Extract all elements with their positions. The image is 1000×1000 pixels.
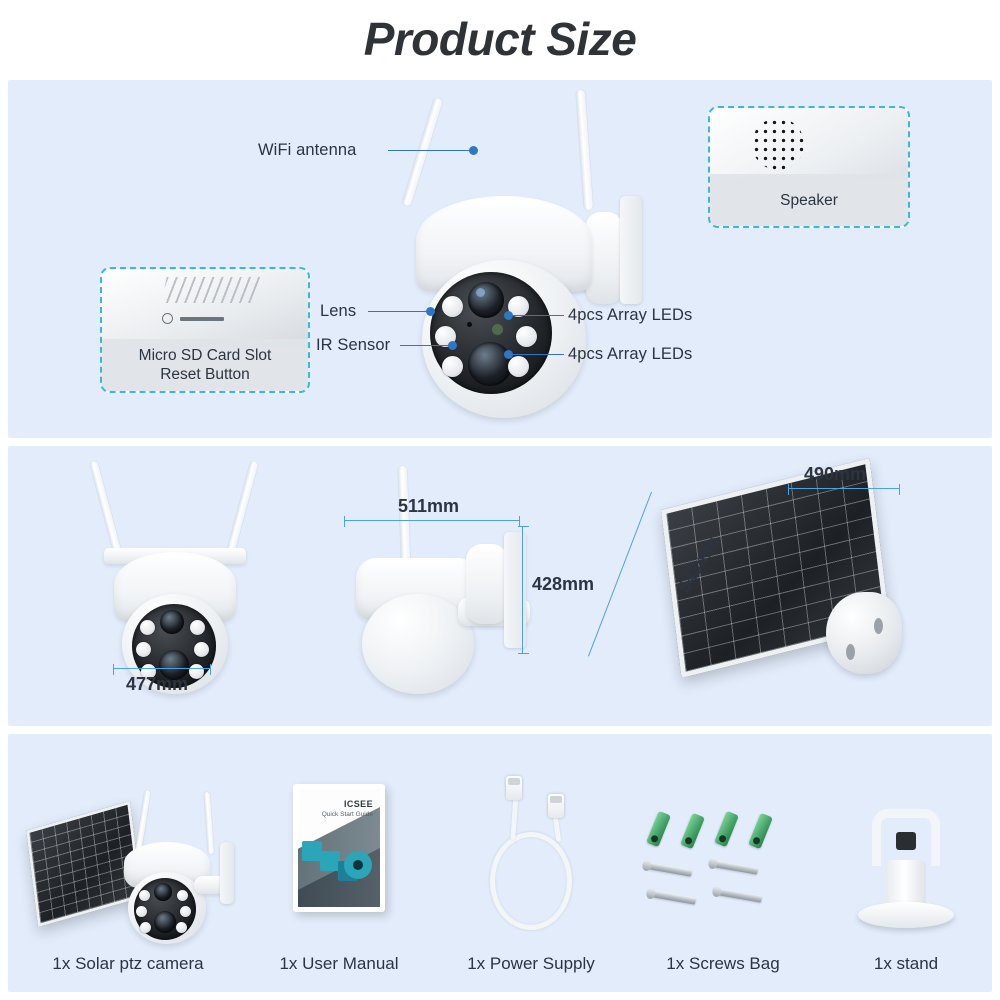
speaker-photo [710,108,908,180]
leader-dot-array-leds-bottom [504,350,513,359]
cable-coil [490,832,572,930]
manual-booklet: ICSEE Quick Start Guide [293,784,385,912]
dimension-line-camera-height [522,526,523,654]
power-supply-art [436,776,626,946]
camera-lower-lens [154,911,176,933]
wifi-antenna-left [135,790,151,852]
package-item-label: 1x Screws Bag [666,954,779,974]
leader-dot-wifi-antenna [469,146,478,155]
lens-highlight-icon [476,288,485,297]
label-wifi-antenna: WiFi antenna [258,141,356,160]
label-array-leds-bottom: 4pcs Array LEDs [568,345,692,364]
leader-line-array-leds-top [508,315,564,316]
ir-pinhole-icon [467,322,472,327]
dimension-line-solar-width [788,488,900,489]
camera-front-view-illustration [88,456,268,666]
ir-sensor-element [492,324,503,335]
dimension-line-camera-depth [344,520,520,521]
callout-micro-sd-card-slot: Micro SD Card Slot Reset Button [100,267,310,393]
camera-lens [160,610,184,634]
leader-line-array-leds-bottom [508,354,564,355]
array-led [140,620,155,635]
package-item-label: 1x Solar ptz camera [52,954,203,974]
camera-lens [154,883,172,901]
array-led [194,642,209,657]
product-features-panel: WiFi antenna Lens IR Sensor 4pcs Array L… [8,80,992,438]
micro-sd-slot-icon [180,317,224,321]
mount-hole-icon [874,618,883,634]
package-item-stand: 1x stand [820,752,992,974]
package-item-label: 1x User Manual [279,954,398,974]
array-led [177,890,188,901]
main-camera-illustration [388,92,668,422]
manual-cover: ICSEE Quick Start Guide [298,789,380,907]
wall-anchor [680,813,705,849]
package-item-screws-bag: 1x Screws Bag [630,752,816,974]
label-ir-sensor: IR Sensor [316,336,390,355]
usb-plug-tip-right [550,796,562,803]
leader-dot-lens [426,307,435,316]
usb-plug-tip-left [508,778,520,785]
solar-ptz-camera-art [14,776,242,946]
stand-art [820,776,992,946]
title-bar: Product Size [0,0,1000,78]
array-led [516,326,537,347]
dimension-label-solar-width: 490mm [804,464,866,485]
array-led [139,890,150,901]
array-led [189,664,204,679]
wifi-antenna-left [89,461,122,558]
leader-line-lens [368,311,430,312]
leader-line-wifi-antenna [388,150,474,151]
camera-mount-neck [466,544,508,624]
user-manual-art: ICSEE Quick Start Guide [246,776,432,946]
camera-illustration [110,790,240,940]
leader-dot-ir-sensor [448,341,457,350]
solar-panel-mount [826,592,902,674]
package-contents-panel: 1x Solar ptz camera ICSEE Quick Start Gu… [8,734,992,992]
speaker-grille-icon [752,118,804,170]
array-led [190,620,205,635]
dimension-label-camera-depth: 511mm [398,496,459,517]
dimension-label-camera-height: 428mm [532,574,594,595]
camera-lens [468,282,504,318]
mount-hole-icon [846,644,855,660]
icsee-eye-logo-icon [344,851,372,879]
package-item-solar-ptz-camera: 1x Solar ptz camera [14,752,242,974]
callout-micro-sd-line2: Reset Button [160,365,250,384]
leader-line-ir-sensor [400,345,452,346]
wifi-antenna-right [576,90,593,210]
reset-button-icon [162,313,173,324]
dimension-label-camera-width: 477mm [126,674,188,695]
package-item-power-supply: 1x Power Supply [436,752,626,974]
camera-lower-lens [468,342,512,386]
array-led [508,356,529,377]
product-dimensions-panel: 477mm 511mm 428mm 490mm 543mm [8,446,992,726]
leader-dot-array-leds-top [504,311,513,320]
cover-tile-icon [302,841,322,861]
array-led [442,296,463,317]
array-led [140,922,151,933]
callout-speaker-line1: Speaker [780,191,838,210]
product-size-infographic: Product Size [0,0,1000,1000]
stand-base [858,902,954,928]
package-item-label: 1x stand [874,954,938,974]
camera-sensor-face [134,878,196,940]
callout-micro-sd-line1: Micro SD Card Slot [139,346,272,365]
screws-bag-art [630,776,816,946]
array-led [180,906,191,917]
camera-wall-plate [220,842,234,904]
screw [648,862,693,877]
sd-slot-vent-icon [161,277,263,303]
wall-anchor [714,811,739,847]
wall-anchor [646,811,671,847]
array-led [442,356,463,377]
dimension-line-solar-length [588,492,652,657]
wifi-antenna-right [225,461,258,558]
wifi-antenna-right [204,792,214,854]
wall-anchor [748,813,773,849]
callout-micro-sd-caption: Micro SD Card Slot Reset Button [102,339,308,391]
cover-tile-icon [320,851,340,871]
array-led [136,906,147,917]
dimension-line-camera-width [113,668,211,669]
array-led [176,922,187,933]
callout-speaker: Speaker [708,106,910,228]
camera-wall-plate [620,196,642,304]
label-array-leds-top: 4pcs Array LEDs [568,306,692,325]
camera-sensor-face [430,272,552,394]
label-lens: Lens [320,302,356,321]
screw [652,890,697,905]
array-led [136,642,151,657]
screw [714,860,759,875]
wifi-antenna-left [402,97,443,207]
page-title: Product Size [364,12,637,66]
manual-subtitle: Quick Start Guide [322,811,373,818]
callout-speaker-caption: Speaker [710,174,908,226]
package-item-user-manual: ICSEE Quick Start Guide 1x User Manual [246,752,432,974]
manual-brand: ICSEE [344,799,373,809]
stand-pin [896,832,916,850]
package-item-label: 1x Power Supply [467,954,595,974]
screw [718,888,763,903]
